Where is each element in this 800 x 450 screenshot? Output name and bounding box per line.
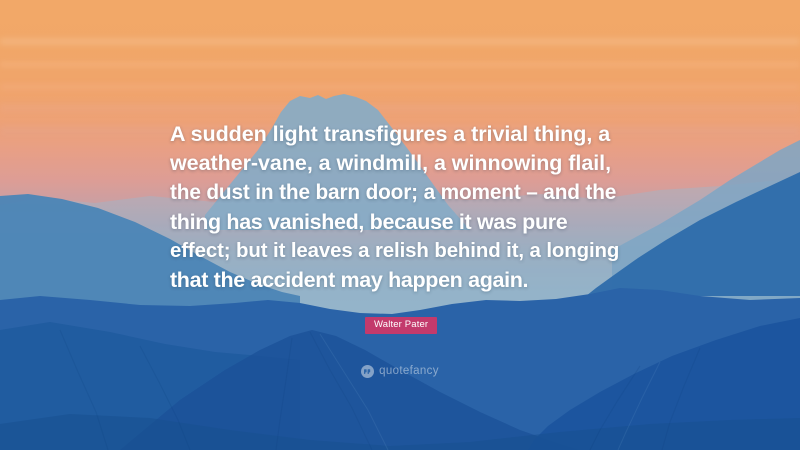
quotefancy-watermark[interactable]: quotefancy xyxy=(0,365,800,378)
quotefancy-brand-text: quotefancy xyxy=(379,366,439,378)
quote-line: effect; but it leaves a relish behind it… xyxy=(170,237,632,266)
quote-line: A sudden light transfigures a trivial th… xyxy=(170,120,632,149)
quote-line: that the accident may happen again. xyxy=(170,266,632,295)
quote-line: the dust in the barn door; a moment – an… xyxy=(170,178,632,207)
quote-wallpaper-image: A sudden light transfigures a trivial th… xyxy=(0,0,800,450)
quote-line: weather-vane, a windmill, a winnowing fl… xyxy=(170,149,632,178)
author-name-badge[interactable]: Walter Pater xyxy=(365,317,437,334)
quote-line: thing has vanished, because it was pure xyxy=(170,208,632,237)
quotefancy-logo-icon xyxy=(361,365,374,378)
quote-text-block: A sudden light transfigures a trivial th… xyxy=(170,120,632,295)
